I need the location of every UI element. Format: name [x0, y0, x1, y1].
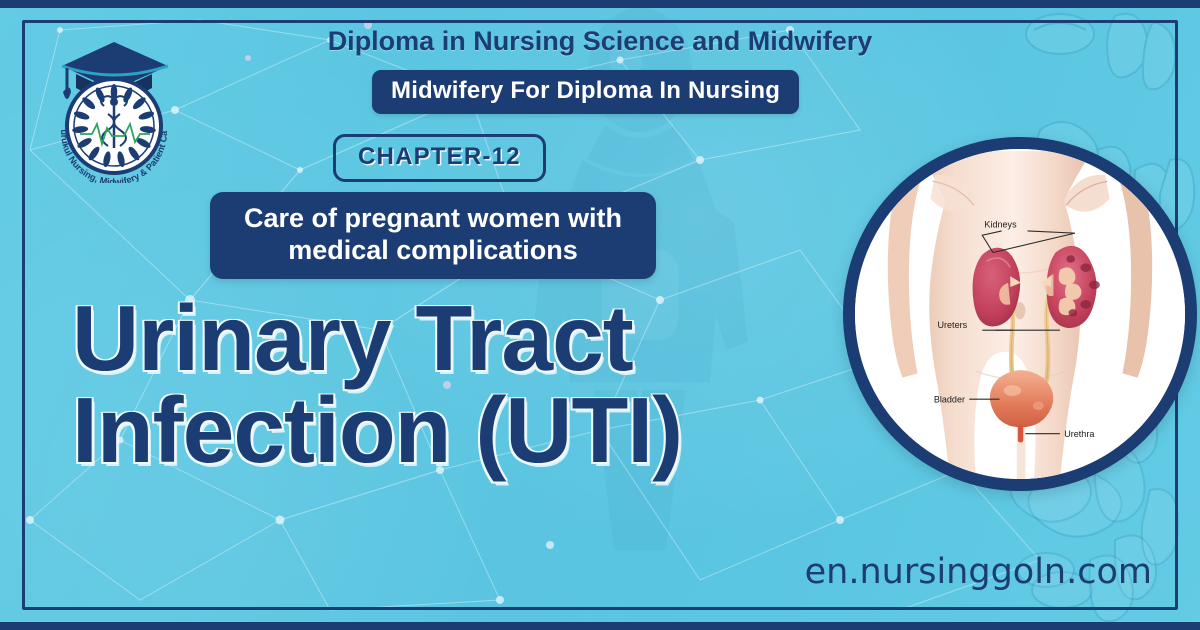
urinary-system-illustration: Kidneys Ureters Bladder Urethra: [843, 137, 1197, 491]
subject-badge: Care of pregnant women with medical comp…: [210, 192, 656, 279]
website-url[interactable]: en.nursinggoln.com: [0, 552, 1152, 592]
urethra-shape: [1018, 425, 1023, 442]
label-ureters: Ureters: [937, 320, 967, 330]
banner-canvas: Gurukul Nursing, Midwifery & Patient Car…: [0, 0, 1200, 630]
label-urethra: Urethra: [1064, 429, 1095, 439]
page-title: Urinary Tract Infection (UTI): [72, 292, 872, 476]
page-kicker: Diploma in Nursing Science and Midwifery: [235, 26, 965, 57]
label-bladder: Bladder: [934, 394, 965, 404]
label-kidneys: Kidneys: [984, 220, 1017, 230]
urinary-system-diagram-icon: Kidneys Ureters Bladder Urethra: [855, 149, 1185, 479]
gurukul-nursing-logo: Gurukul Nursing, Midwifery & Patient Car…: [42, 28, 192, 183]
top-accent-bar: [0, 0, 1200, 8]
bottom-accent-bar: [0, 622, 1200, 630]
course-pill-badge: Midwifery For Diploma In Nursing: [372, 70, 799, 114]
page-title-line2: Infection (UTI): [72, 384, 872, 476]
kicker-wrap: Diploma in Nursing Science and Midwifery: [235, 26, 965, 57]
chapter-badge: CHAPTER-12: [333, 134, 546, 182]
page-title-line1: Urinary Tract: [72, 286, 633, 390]
